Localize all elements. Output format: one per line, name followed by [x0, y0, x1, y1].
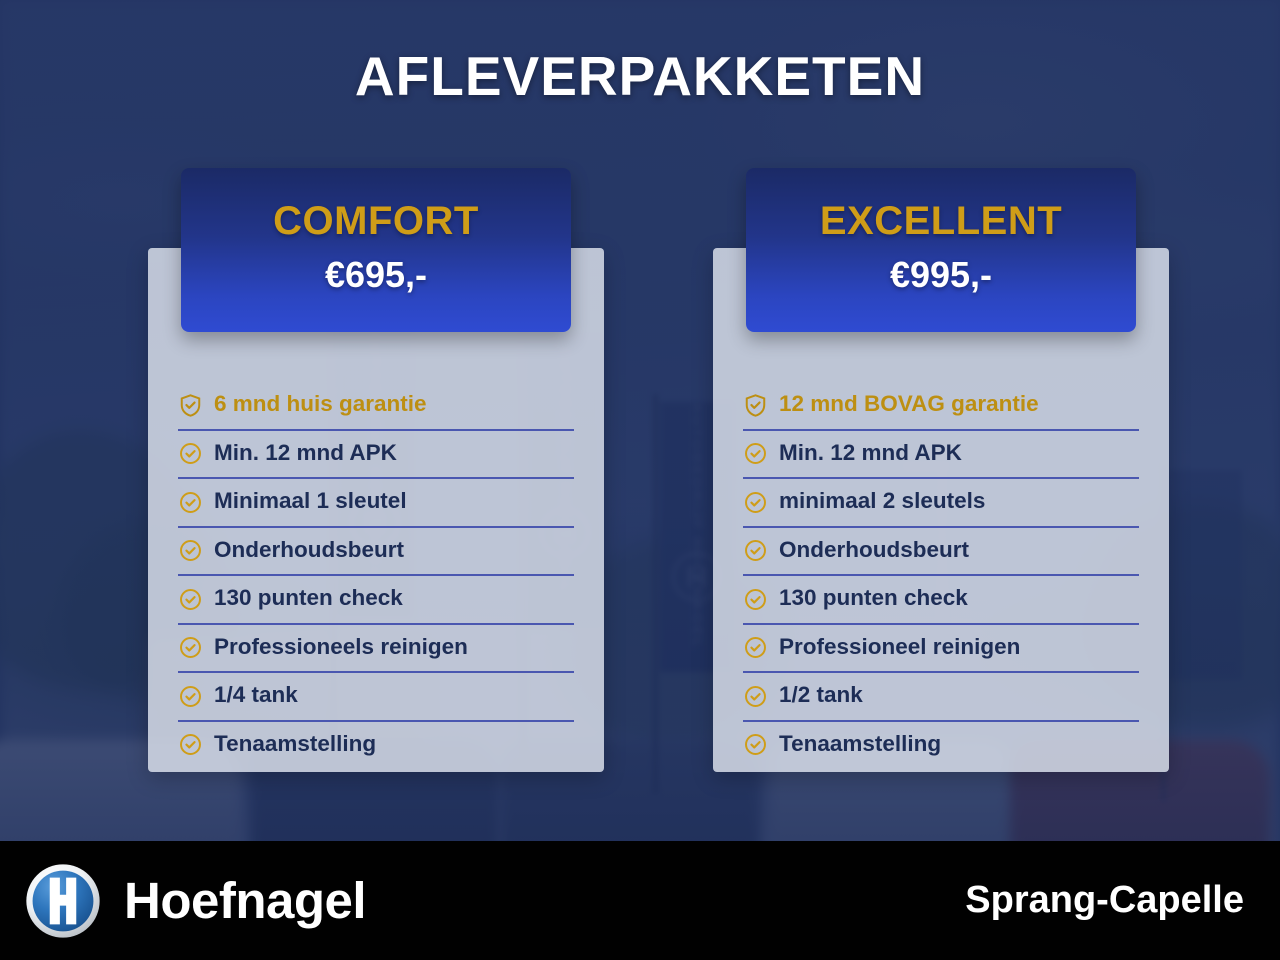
feature-label: 1/4 tank [214, 684, 298, 709]
feature-label: Min. 12 mnd APK [779, 442, 962, 467]
circle-check-icon [743, 490, 768, 515]
feature-item: Minimaal 1 sleutel [178, 479, 574, 528]
feature-item: Onderhoudsbeurt [743, 528, 1139, 577]
package-feature-list: 6 mnd huis garantie Min. 12 mnd APK Mini… [148, 382, 604, 768]
brand-name: Hoefnagel [124, 871, 366, 930]
package-name: COMFORT [181, 199, 571, 244]
circle-check-icon [743, 635, 768, 660]
circle-check-icon [743, 538, 768, 563]
circle-check-icon [743, 732, 768, 757]
feature-item: minimaal 2 sleutels [743, 479, 1139, 528]
circle-check-icon [178, 490, 203, 515]
feature-label: Professioneels reinigen [214, 636, 468, 661]
feature-item: Tenaamstelling [743, 722, 1139, 769]
location-label: Sprang-Capelle [965, 879, 1244, 922]
feature-item: Min. 12 mnd APK [743, 431, 1139, 480]
feature-item: 130 punten check [178, 576, 574, 625]
shield-check-icon [178, 393, 203, 418]
feature-label: 12 mnd BOVAG garantie [779, 393, 1039, 418]
brand-block[interactable]: Hoefnagel [24, 862, 366, 940]
feature-label: Minimaal 1 sleutel [214, 490, 407, 515]
package-price: €995,- [746, 254, 1136, 296]
feature-item: 12 mnd BOVAG garantie [743, 382, 1139, 431]
page-title: AFLEVERPAKKETEN [0, 44, 1280, 108]
circle-check-icon [178, 587, 203, 612]
circle-check-icon [178, 732, 203, 757]
feature-label: Min. 12 mnd APK [214, 442, 397, 467]
package-header: COMFORT €695,- [181, 168, 571, 332]
feature-item: 1/2 tank [743, 673, 1139, 722]
hoefnagel-h-logo-icon [24, 862, 102, 940]
feature-label: 6 mnd huis garantie [214, 393, 427, 418]
circle-check-icon [178, 538, 203, 563]
package-name: EXCELLENT [746, 199, 1136, 244]
package-list: COMFORT €695,- 6 mnd huis garantie [0, 168, 1280, 808]
footer-bar: Hoefnagel Sprang-Capelle [0, 841, 1280, 960]
feature-label: minimaal 2 sleutels [779, 490, 985, 515]
circle-check-icon [178, 635, 203, 660]
feature-item: 6 mnd huis garantie [178, 382, 574, 431]
feature-item: Professioneels reinigen [178, 625, 574, 674]
package-price: €695,- [181, 254, 571, 296]
circle-check-icon [178, 684, 203, 709]
circle-check-icon [743, 684, 768, 709]
poster-stage: AUTOBEDRIJF HOEFNAGEL AUTOBEDRIJF HOEFNA… [0, 0, 1280, 960]
feature-item: Onderhoudsbeurt [178, 528, 574, 577]
feature-item: Tenaamstelling [178, 722, 574, 769]
feature-label: 130 punten check [214, 587, 403, 612]
feature-label: Onderhoudsbeurt [779, 539, 969, 564]
feature-label: Tenaamstelling [214, 733, 376, 758]
circle-check-icon [178, 441, 203, 466]
feature-item: Professioneel reinigen [743, 625, 1139, 674]
feature-item: 1/4 tank [178, 673, 574, 722]
circle-check-icon [743, 441, 768, 466]
circle-check-icon [743, 587, 768, 612]
feature-item: 130 punten check [743, 576, 1139, 625]
package-feature-list: 12 mnd BOVAG garantie Min. 12 mnd APK mi… [713, 382, 1169, 768]
feature-item: Min. 12 mnd APK [178, 431, 574, 480]
feature-label: 130 punten check [779, 587, 968, 612]
feature-label: Onderhoudsbeurt [214, 539, 404, 564]
shield-check-icon [743, 393, 768, 418]
feature-label: 1/2 tank [779, 684, 863, 709]
package-header: EXCELLENT €995,- [746, 168, 1136, 332]
feature-label: Tenaamstelling [779, 733, 941, 758]
feature-label: Professioneel reinigen [779, 636, 1020, 661]
